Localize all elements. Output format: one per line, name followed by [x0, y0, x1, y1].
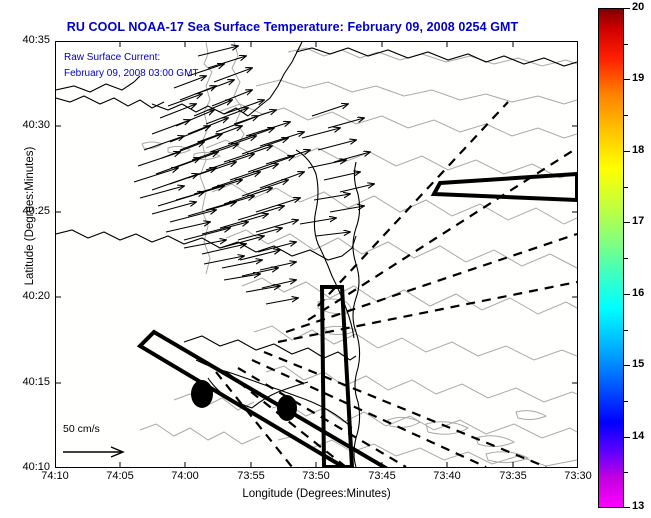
current-vectors [134, 46, 374, 304]
x-tick-5: 73:45 [347, 470, 417, 482]
y-tick-4: 40:15 [2, 376, 50, 388]
y-tick-0: 40:35 [2, 34, 50, 46]
x-tick-7: 73:35 [478, 470, 548, 482]
x-tick-3: 73:55 [216, 470, 286, 482]
map-plot-area[interactable]: Raw Surface Current: February 09, 2008 0… [55, 41, 578, 468]
colorbar-tick-15: 15 [632, 358, 644, 370]
colorbar[interactable] [598, 8, 624, 508]
page-title: RU COOL NOAA-17 Sea Surface Temperature:… [0, 20, 585, 34]
coastline [56, 42, 577, 467]
arrow-right-icon [63, 445, 133, 459]
colorbar-tick-20: 20 [632, 1, 644, 13]
x-tick-6: 73:40 [412, 470, 482, 482]
annotation-line-2: February 09, 2008 03:00 GMT [64, 68, 199, 79]
annotation-line-1: Raw Surface Current: [64, 52, 160, 63]
sst-figure: RU COOL NOAA-17 Sea Surface Temperature:… [0, 0, 651, 518]
dashed-survey-lines [216, 102, 577, 467]
colorbar-tick-13: 13 [632, 500, 644, 512]
y-tick-5: 40:10 [2, 461, 50, 473]
scale-legend-label: 50 cm/s [63, 423, 100, 435]
colorbar-tick-14: 14 [632, 430, 644, 442]
x-axis-title: Longitude (Degrees:Minutes) [55, 488, 578, 500]
colorbar-tick-17: 17 [632, 215, 644, 227]
x-tick-4: 73:50 [281, 470, 351, 482]
scale-legend: 50 cm/s [61, 423, 171, 467]
colorbar-tick-19: 19 [632, 72, 644, 84]
x-tick-1: 74:05 [85, 470, 155, 482]
y-axis-title: Latitude (Degrees:Minutes) [24, 96, 36, 336]
map-canvas [56, 42, 577, 467]
colorbar-tick-16: 16 [632, 287, 644, 299]
colorbar-tick-18: 18 [632, 144, 644, 156]
x-tick-2: 74:00 [150, 470, 220, 482]
